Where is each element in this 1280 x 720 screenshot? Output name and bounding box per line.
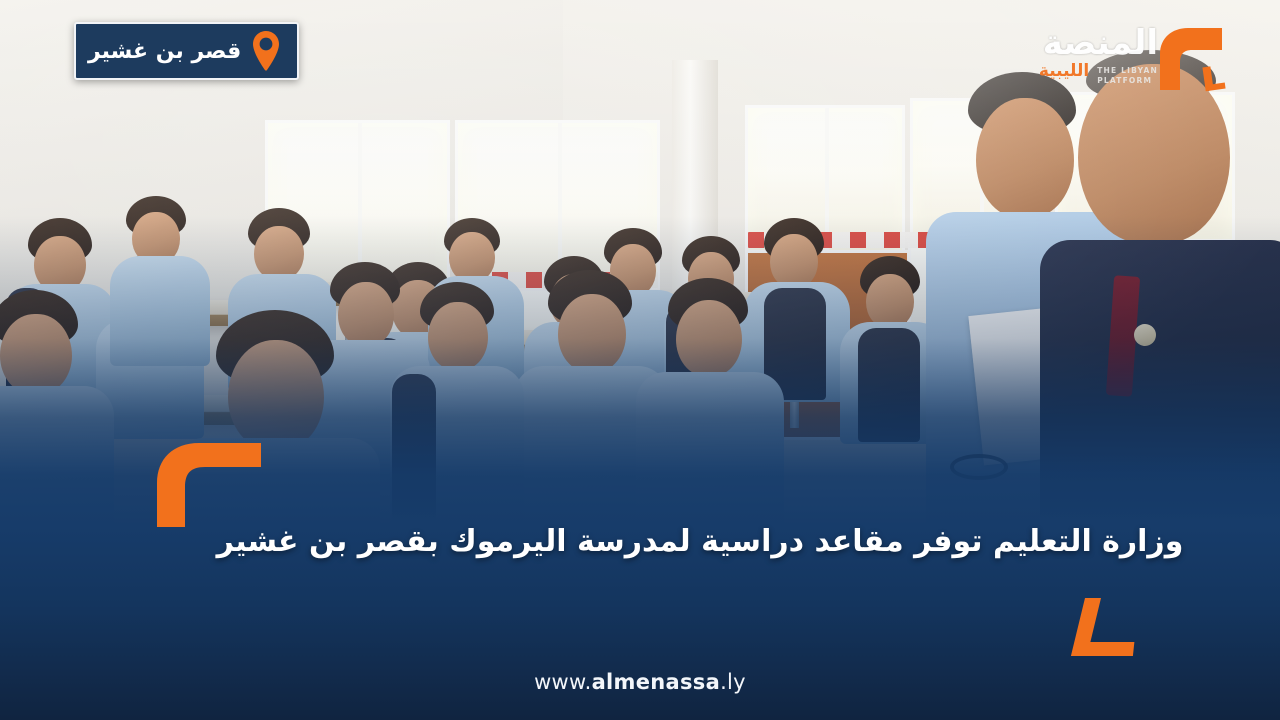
map-pin-icon	[251, 31, 281, 71]
headline: وزارة التعليم توفر مقاعد دراسية لمدرسة ا…	[180, 520, 1220, 564]
almenassa-logo[interactable]: المنصة THE LIBYAN PLATFORM الليبية	[1032, 18, 1232, 96]
logo-name-english: THE LIBYAN PLATFORM	[1097, 63, 1158, 86]
logo-en-line1: THE LIBYAN	[1097, 66, 1158, 76]
url-prefix: www.	[534, 670, 591, 694]
news-graphic-card: قصر بن غشير المنصة THE LIBYAN PLATFORM ا…	[0, 0, 1280, 720]
logo-qualifier-arabic: الليبية	[1039, 63, 1089, 81]
logo-wordmark: المنصة THE LIBYAN PLATFORM الليبية	[1039, 26, 1158, 86]
location-label: قصر بن غشير	[88, 39, 241, 64]
logo-en-line2: PLATFORM	[1097, 76, 1158, 86]
almenassa-bracket-logo-icon	[1154, 20, 1232, 92]
website-url[interactable]: www.almenassa.ly	[0, 670, 1280, 694]
location-badge[interactable]: قصر بن غشير	[74, 22, 299, 80]
logo-name-arabic: المنصة	[1039, 26, 1158, 60]
url-suffix: .ly	[720, 670, 746, 694]
orange-corner-bracket-icon	[157, 443, 261, 527]
url-brand: almenassa	[592, 670, 721, 694]
orange-corner-hook-icon	[1055, 598, 1139, 656]
